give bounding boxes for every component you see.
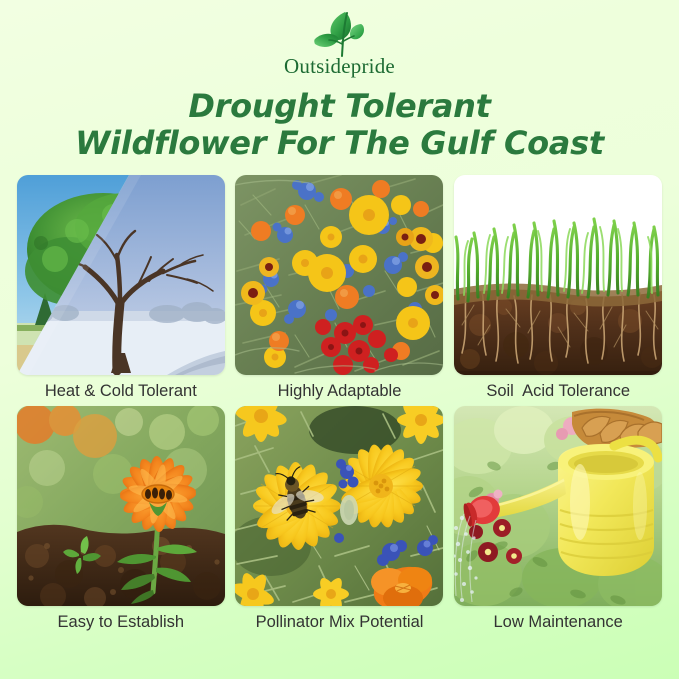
mixed-wildflower-meadow-photo <box>235 175 443 375</box>
feature-card-heat-cold-tolerant: Heat & Cold Tolerant <box>16 175 227 400</box>
feature-caption: Low Maintenance <box>493 613 622 631</box>
tree-summer-winter-split-photo <box>17 175 225 375</box>
feature-caption: Highly Adaptable <box>278 382 402 400</box>
bee-on-yellow-coreopsis-photo <box>235 406 443 606</box>
grass-soil-cross-section-photo <box>454 175 662 375</box>
page-title-line-1: Drought Tolerant <box>10 88 670 125</box>
brand-wordmark: Outsidepride <box>284 56 395 77</box>
page-title-line-2: Wildflower For The Gulf Coast <box>10 125 670 162</box>
feature-caption: Soil Acid Tolerance <box>486 382 630 400</box>
yellow-watering-can-photo <box>454 406 662 606</box>
page-title: Drought Tolerant Wildflower For The Gulf… <box>10 88 670 163</box>
feature-caption: Pollinator Mix Potential <box>256 613 424 631</box>
orange-daisy-in-soil-photo <box>17 406 225 606</box>
infographic-root: Outsidepride Drought Tolerant Wildflower… <box>0 0 679 679</box>
feature-card-low-maintenance: Low Maintenance <box>453 406 664 631</box>
feature-card-highly-adaptable: Highly Adaptable <box>234 175 445 400</box>
feature-card-pollinator-mix-potential: Pollinator Mix Potential <box>234 406 445 631</box>
feature-card-soil-acid-tolerance: Soil Acid Tolerance <box>453 175 664 400</box>
feature-card-easy-to-establish: Easy to Establish <box>16 406 227 631</box>
feature-grid: Heat & Cold Tolerant <box>16 175 664 631</box>
feature-caption: Heat & Cold Tolerant <box>45 382 197 400</box>
brand-logo: Outsidepride <box>284 6 395 77</box>
feature-caption: Easy to Establish <box>58 613 185 631</box>
